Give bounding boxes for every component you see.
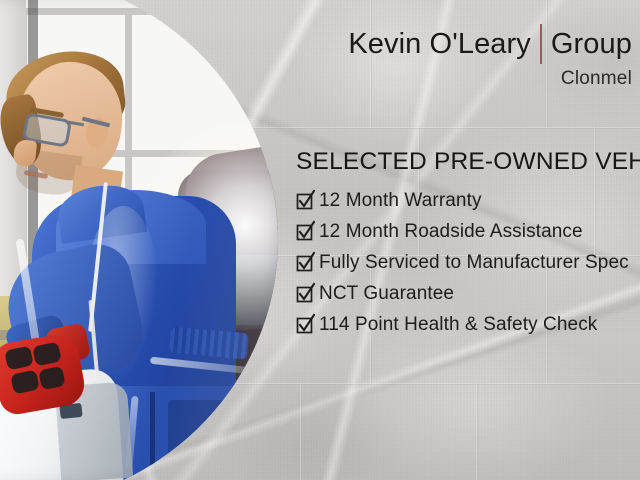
list-item: 12 Month Warranty	[297, 189, 629, 220]
brand-name-primary: Kevin O'Leary	[348, 29, 531, 59]
list-item: NCT Guarantee	[297, 282, 629, 313]
page-title: SELECTED PRE-OWNED VEHICLES	[296, 148, 640, 176]
list-item-label: NCT Guarantee	[319, 282, 454, 306]
checked-box-icon	[297, 193, 312, 208]
list-item-label: 12 Month Roadside Assistance	[319, 220, 583, 244]
brand-location: Clonmel	[300, 68, 632, 90]
list-item-label: Fully Serviced to Manufacturer Spec	[319, 251, 629, 275]
dealership-promo-banner: Kevin O'Leary Group Clonmel SELECTED PRE…	[0, 0, 640, 480]
brand-logo-line: Kevin O'Leary Group	[300, 24, 632, 64]
brand-logo: Kevin O'Leary Group Clonmel	[300, 24, 632, 90]
brand-name-secondary: Group	[551, 29, 632, 59]
list-item: 114 Point Health & Safety Check	[297, 313, 629, 344]
list-item: 12 Month Roadside Assistance	[297, 220, 629, 251]
feature-list: 12 Month Warranty 12 Month Roadside Assi…	[297, 189, 629, 344]
checked-box-icon	[297, 317, 312, 332]
brand-divider	[540, 24, 542, 64]
list-item-label: 114 Point Health & Safety Check	[319, 313, 597, 337]
checked-box-icon	[297, 224, 312, 239]
list-item-label: 12 Month Warranty	[319, 189, 482, 213]
checked-box-icon	[297, 255, 312, 270]
list-item: Fully Serviced to Manufacturer Spec	[297, 251, 629, 282]
checked-box-icon	[297, 286, 312, 301]
